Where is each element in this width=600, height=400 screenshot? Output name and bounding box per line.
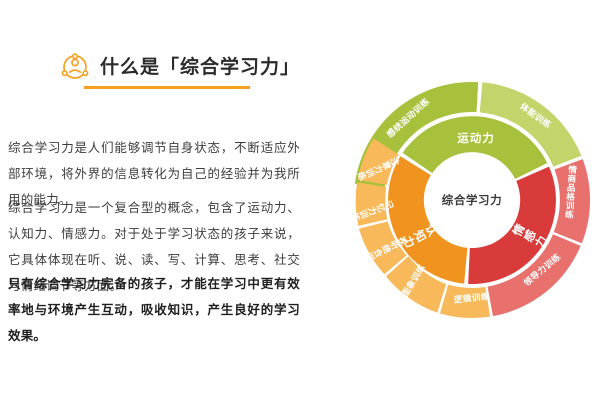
learning-power-donut-chart: 综合学习力 运动力 情感力 认知力 感统运动训练 体能训练 情商品格训练 [350, 55, 595, 345]
section-heading: 什么是「综合学习力」 [60, 52, 300, 82]
content-column: 什么是「综合学习力」 综合学习力是人们能够调节自身状态，不断适应外部环境，将外界… [0, 0, 350, 400]
donut-svg: 综合学习力 运动力 情感力 认知力 感统运动训练 体能训练 情商品格训练 [350, 55, 595, 345]
paragraph-conclusion: 只有综合学习力完备的孩子，才能在学习中更有效率地与环境产生互动，吸收知识，产生良… [8, 271, 300, 349]
inner-label-motor-power: 运动力 [457, 131, 495, 145]
page-root: 什么是「综合学习力」 综合学习力是人们能够调节自身状态，不断适应外部环境，将外界… [0, 0, 600, 400]
heading-underline [84, 86, 250, 89]
donut-center-label: 综合学习力 [442, 193, 503, 207]
network-person-icon [60, 52, 90, 82]
page-title: 什么是「综合学习力」 [100, 58, 300, 77]
